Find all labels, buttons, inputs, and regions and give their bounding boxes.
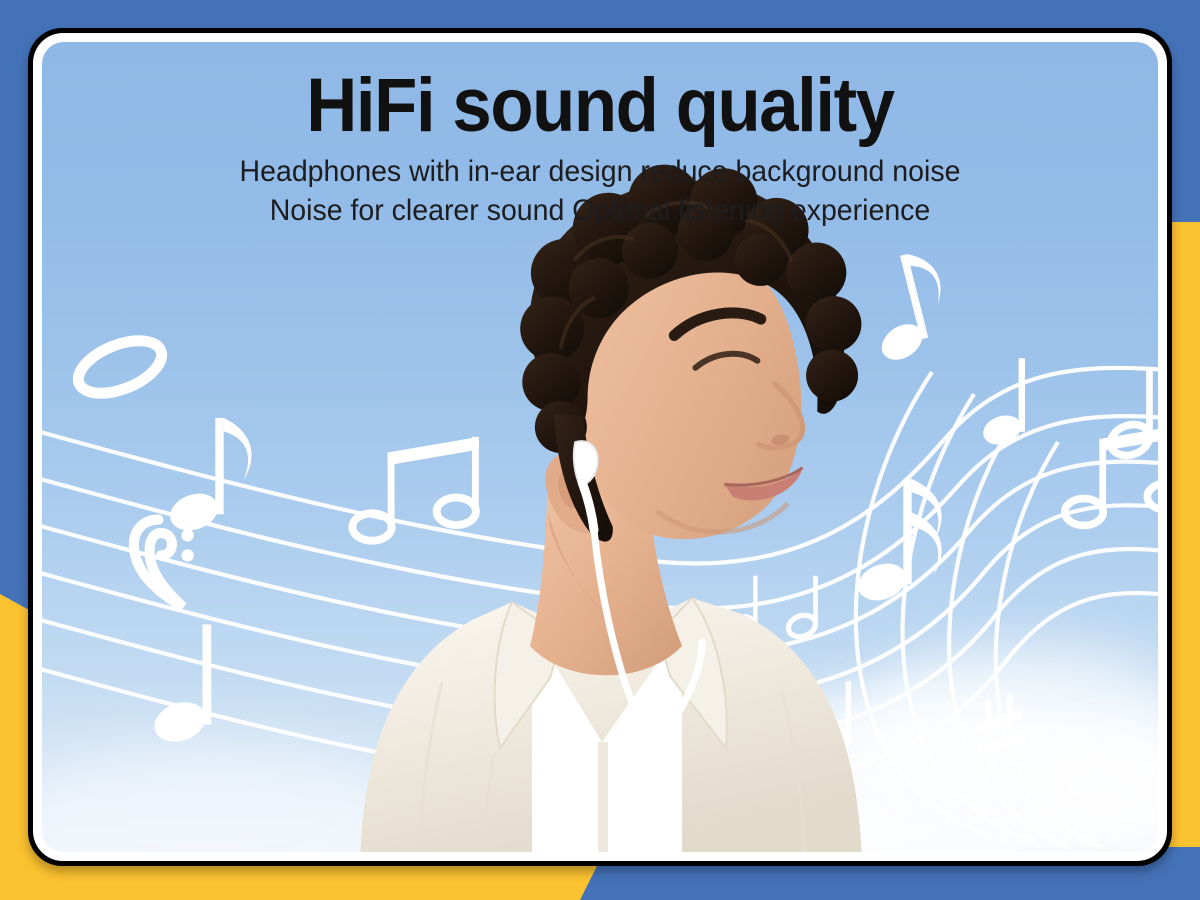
- cable-right: [646, 642, 702, 786]
- staff-lines-right: [662, 368, 1158, 790]
- cable-splitter: [640, 768, 652, 802]
- staff-lines-swirl: [856, 372, 1102, 848]
- sharp-sign-icon: [972, 692, 1030, 773]
- hero-card: HiFi sound quality Headphones with in-ea…: [42, 42, 1158, 852]
- beamed-notes-icon: [352, 437, 478, 541]
- staff-lines-left: [42, 427, 662, 789]
- subtitle-line-2: Noise for clearer sound Optimal listenin…: [70, 191, 1130, 230]
- eighth-note-icon: [856, 248, 957, 370]
- card-outer-border: HiFi sound quality Headphones with in-ea…: [28, 28, 1172, 866]
- ear: [540, 450, 597, 541]
- card-inner-border: HiFi sound quality Headphones with in-ea…: [33, 33, 1167, 861]
- cable-left: [594, 530, 646, 786]
- cloud-shape: [642, 692, 1158, 852]
- half-note-icon: [1106, 368, 1154, 461]
- whole-note-icon: [71, 330, 169, 404]
- bass-clef-icon: [134, 520, 194, 607]
- page-title: HiFi sound quality: [81, 64, 1119, 148]
- mouth: [724, 468, 807, 507]
- nose: [747, 380, 806, 452]
- beamed-notes-icon: [1065, 424, 1158, 526]
- subtitle-line-1: Headphones with in-ear design reduce bac…: [70, 152, 1130, 191]
- earbud: [574, 441, 598, 486]
- headline-block: HiFi sound quality Headphones with in-ea…: [42, 64, 1158, 230]
- closed-eye: [694, 348, 757, 374]
- eyebrow: [672, 306, 761, 338]
- cloud-shape: [42, 742, 422, 852]
- earphone: [574, 441, 702, 852]
- earbud-stem: [582, 482, 594, 530]
- beamed-sixteenth-notes-icon: [853, 479, 942, 607]
- half-note-icon: [812, 681, 852, 759]
- collar-left: [495, 602, 562, 748]
- inner-tshirt: [532, 654, 682, 852]
- jacket: [360, 598, 862, 852]
- quarter-note-icon: [979, 358, 1025, 449]
- cloud-shape: [422, 777, 902, 852]
- poster-canvas: HiFi sound quality Headphones with in-ea…: [0, 0, 1200, 900]
- cloud-shape: [1022, 732, 1158, 852]
- quarter-note-icon: [149, 625, 211, 749]
- cloud-shape: [862, 642, 1158, 792]
- eighth-note-icon: [165, 418, 252, 537]
- quarter-note-icon: [727, 576, 758, 638]
- half-note-icon: [785, 576, 818, 641]
- neck: [530, 466, 682, 675]
- collar-right: [658, 598, 727, 748]
